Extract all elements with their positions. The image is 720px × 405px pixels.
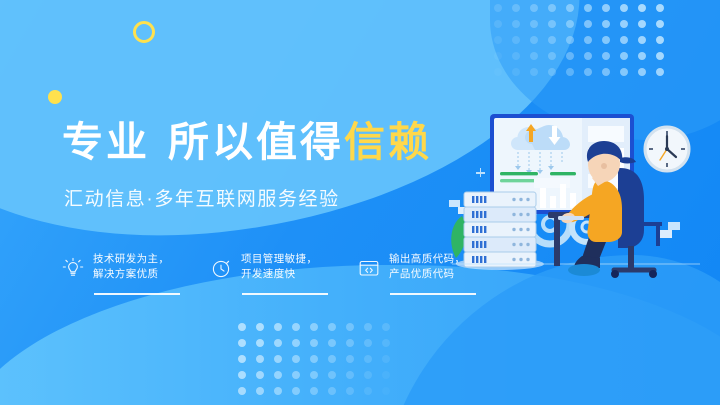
grid-dot <box>346 323 354 331</box>
grid-dot <box>548 4 556 12</box>
grid-dot <box>364 387 372 395</box>
grid-dot <box>566 20 574 28</box>
grid-dot <box>638 4 646 12</box>
feature-text-research: 技术研发为主， 解决方案优质 <box>93 252 169 282</box>
grid-dot <box>256 339 264 347</box>
grid-dot <box>292 323 300 331</box>
grid-dot <box>238 355 246 363</box>
yellow-ring-icon <box>133 21 155 43</box>
grid-dot <box>602 4 610 12</box>
grid-dot <box>238 339 246 347</box>
feature-item-agile[interactable]: 项目管理敏捷， 开发速度快 <box>208 252 332 295</box>
yellow-dot-icon <box>48 90 62 104</box>
grid-dot <box>566 4 574 12</box>
grid-dot <box>656 36 664 44</box>
grid-dot <box>310 355 318 363</box>
grid-dot <box>602 68 610 76</box>
grid-dot <box>382 323 390 331</box>
wall-clock-icon <box>645 127 689 171</box>
feature-line-1: 技术研发为主， <box>93 253 169 265</box>
grid-dot <box>256 371 264 379</box>
grid-dot <box>346 339 354 347</box>
feature-line-2: 开发速度快 <box>241 268 296 280</box>
promo-banner: 专业所以值得信赖 汇动信息·多年互联网服务经验 技术研发为主， 解决方案优质 <box>0 0 720 405</box>
grid-dot <box>494 36 502 44</box>
feature-text-agile: 项目管理敏捷， 开发速度快 <box>241 252 317 282</box>
grid-dot <box>238 387 246 395</box>
grid-dot <box>566 68 574 76</box>
grid-dot <box>530 36 538 44</box>
grid-dot <box>310 371 318 379</box>
grid-dot <box>620 20 628 28</box>
grid-dot <box>584 36 592 44</box>
grid-dot <box>238 323 246 331</box>
feature-underline <box>94 293 180 295</box>
grid-dot <box>512 36 520 44</box>
grid-dot <box>548 52 556 60</box>
grid-dot <box>584 20 592 28</box>
feature-line-2: 解决方案优质 <box>93 268 158 280</box>
grid-dot <box>494 20 502 28</box>
grid-dot <box>274 371 282 379</box>
grid-dot <box>512 4 520 12</box>
feature-list: 技术研发为主， 解决方案优质 项目管理敏捷， 开发速度快 <box>60 252 480 295</box>
grid-dot <box>620 4 628 12</box>
grid-dot <box>292 371 300 379</box>
grid-dot <box>584 68 592 76</box>
grid-dot <box>292 355 300 363</box>
stopwatch-icon <box>208 255 234 281</box>
grid-dot <box>602 52 610 60</box>
grid-dot <box>256 355 264 363</box>
grid-dot <box>620 52 628 60</box>
grid-dot <box>584 52 592 60</box>
lightbulb-icon <box>60 255 86 281</box>
grid-dot <box>364 339 372 347</box>
grid-dot <box>346 355 354 363</box>
grid-dot <box>494 4 502 12</box>
grid-dot <box>310 323 318 331</box>
headline: 专业所以值得信赖 <box>62 122 432 163</box>
grid-dot <box>256 323 264 331</box>
grid-dot <box>566 52 574 60</box>
grid-dot <box>512 20 520 28</box>
headline-accent: 信赖 <box>344 119 432 165</box>
grid-dot <box>638 36 646 44</box>
grid-dot <box>292 339 300 347</box>
grid-dot <box>530 68 538 76</box>
grid-dot <box>382 371 390 379</box>
grid-dot <box>274 355 282 363</box>
developer-at-desk-illustration <box>432 96 720 296</box>
grid-dot <box>638 52 646 60</box>
grid-dot <box>584 4 592 12</box>
grid-dot <box>382 339 390 347</box>
grid-dot <box>656 20 664 28</box>
grid-dot <box>382 387 390 395</box>
grid-dot <box>364 323 372 331</box>
headline-middle: 所以值得 <box>168 119 344 165</box>
grid-dot <box>530 4 538 12</box>
dot-grid-bottom <box>238 323 398 403</box>
grid-dot <box>620 68 628 76</box>
grid-dot <box>602 36 610 44</box>
headline-lead: 专业 <box>62 119 150 165</box>
feature-item-research[interactable]: 技术研发为主， 解决方案优质 <box>60 252 184 295</box>
grid-dot <box>530 20 538 28</box>
grid-dot <box>656 52 664 60</box>
grid-dot <box>602 20 610 28</box>
grid-dot <box>566 36 574 44</box>
grid-dot <box>292 387 300 395</box>
grid-dot <box>548 20 556 28</box>
grid-dot <box>328 355 336 363</box>
grid-dot <box>364 355 372 363</box>
grid-dot <box>328 323 336 331</box>
grid-dot <box>512 52 520 60</box>
grid-dot <box>620 36 628 44</box>
grid-dot <box>656 68 664 76</box>
feature-line-1: 项目管理敏捷， <box>241 253 317 265</box>
grid-dot <box>548 36 556 44</box>
grid-dot <box>274 387 282 395</box>
grid-dot <box>494 68 502 76</box>
grid-dot <box>638 20 646 28</box>
grid-dot <box>310 339 318 347</box>
grid-dot <box>530 52 538 60</box>
server-rack-icon <box>456 192 544 270</box>
grid-dot <box>364 371 372 379</box>
grid-dot <box>656 4 664 12</box>
grid-dot <box>274 339 282 347</box>
grid-dot <box>512 68 520 76</box>
grid-dot <box>310 387 318 395</box>
grid-dot <box>274 323 282 331</box>
grid-dot <box>638 68 646 76</box>
grid-dot <box>548 68 556 76</box>
grid-dot <box>256 387 264 395</box>
grid-dot <box>346 387 354 395</box>
grid-dot <box>346 371 354 379</box>
grid-dot <box>328 371 336 379</box>
subheadline: 汇动信息·多年互联网服务经验 <box>64 184 340 211</box>
grid-dot <box>238 371 246 379</box>
grid-dot <box>382 355 390 363</box>
code-window-icon <box>356 255 382 281</box>
grid-dot <box>328 339 336 347</box>
grid-dot <box>494 52 502 60</box>
grid-dot <box>328 387 336 395</box>
dot-grid-top-right <box>494 4 674 94</box>
feature-underline <box>242 293 328 295</box>
